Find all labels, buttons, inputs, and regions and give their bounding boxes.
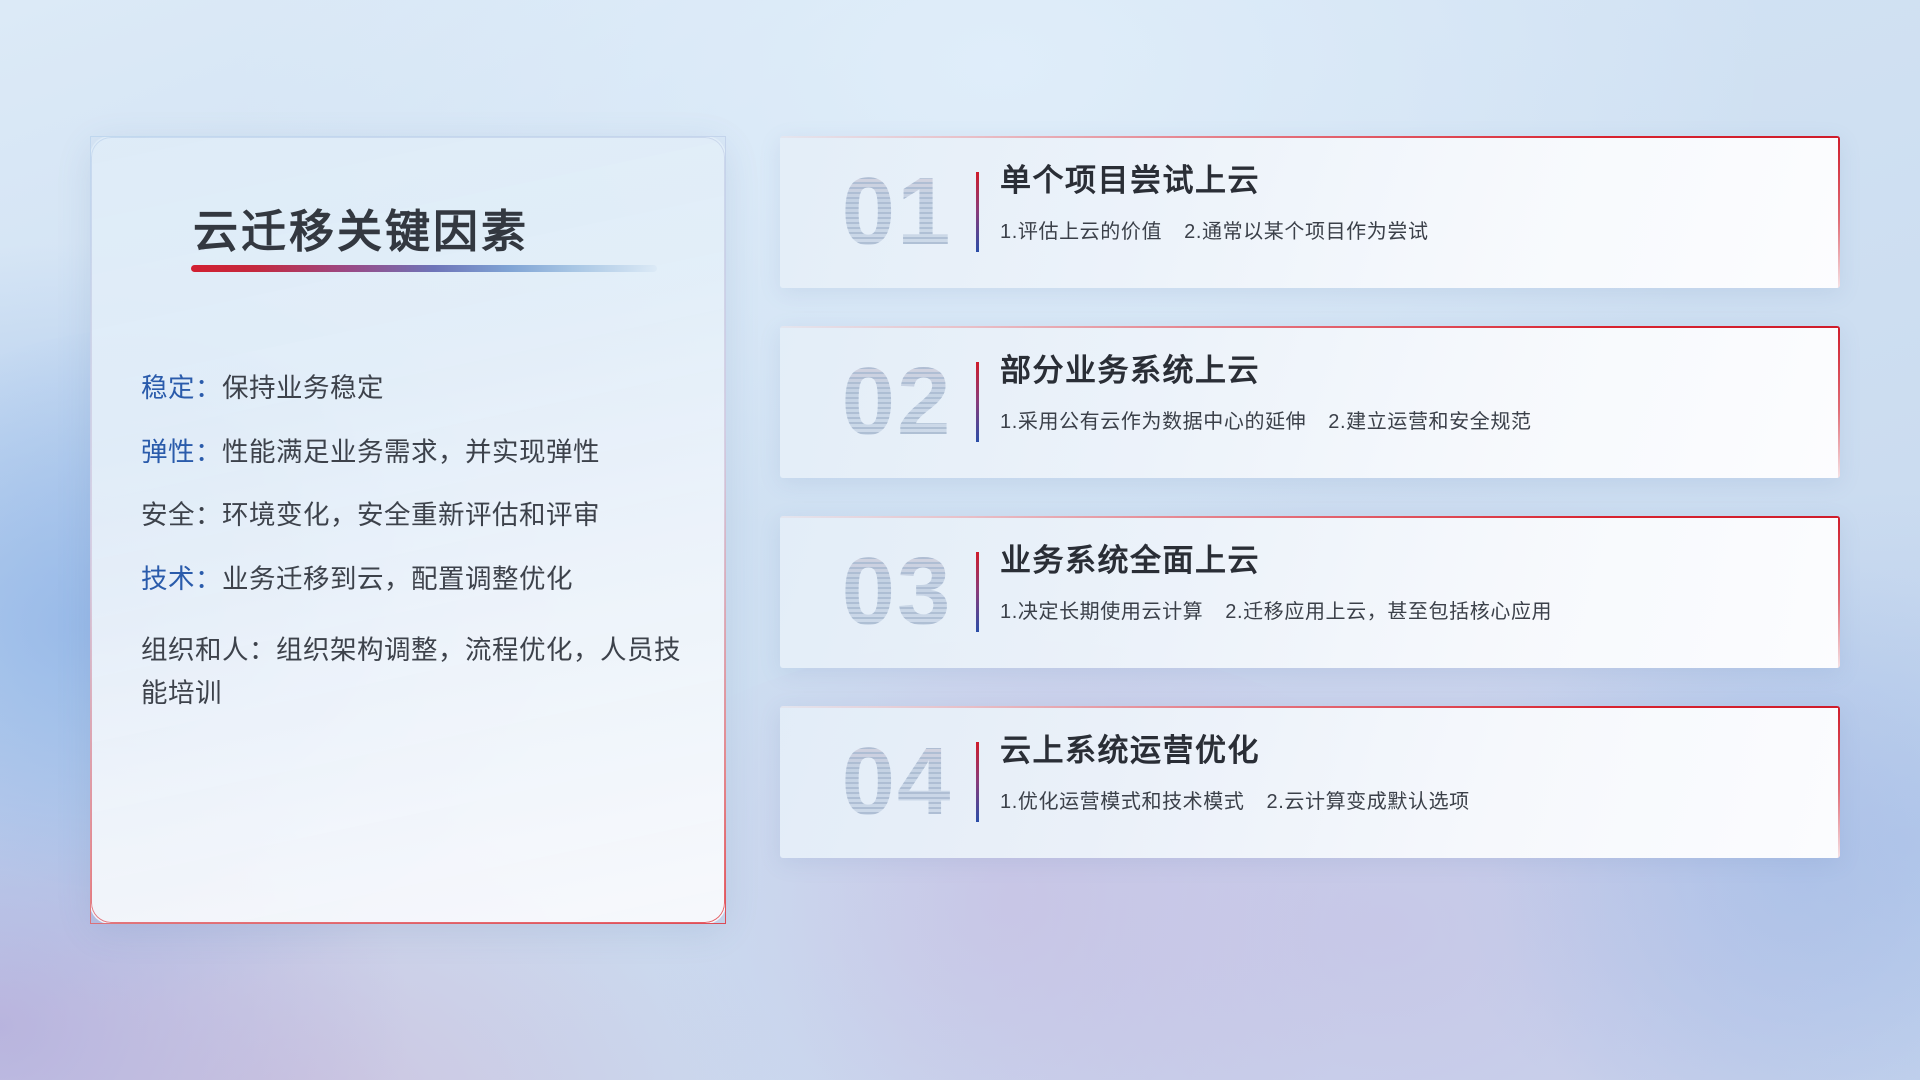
stage-number-watermark: 04 <box>802 722 992 842</box>
card-body: 云上系统运营优化 1.优化运营模式和技术模式2.云计算变成默认选项 <box>1000 732 1800 814</box>
factor-description: 保持业务稳定 <box>222 373 384 403</box>
stage-number-watermark: 01 <box>802 152 992 272</box>
card-right-accent <box>1838 516 1840 668</box>
card-top-accent <box>780 326 1840 328</box>
card-divider-bar <box>976 172 979 252</box>
card-body: 部分业务系统上云 1.采用公有云作为数据中心的延伸2.建立运营和安全规范 <box>1000 352 1800 434</box>
card-title: 单个项目尝试上云 <box>1000 162 1800 201</box>
factor-item: 弹性：性能满足业务需求，并实现弹性 <box>141 439 701 466</box>
card-description: 1.决定长期使用云计算2.迁移应用上云，甚至包括核心应用 <box>1000 595 1800 624</box>
stage-card[interactable]: 03 业务系统全面上云 1.决定长期使用云计算2.迁移应用上云，甚至包括核心应用 <box>780 516 1840 668</box>
card-point: 1.优化运营模式和技术模式 <box>1000 791 1244 813</box>
factor-item: 安全：环境变化，安全重新评估和评审 <box>141 502 701 529</box>
card-divider-bar <box>976 552 979 632</box>
factor-description: 性能满足业务需求，并实现弹性 <box>222 437 600 467</box>
card-divider-bar <box>976 362 979 442</box>
card-title: 业务系统全面上云 <box>1000 542 1800 581</box>
card-description: 1.评估上云的价值2.通常以某个项目作为尝试 <box>1000 215 1800 244</box>
stage-card[interactable]: 01 单个项目尝试上云 1.评估上云的价值2.通常以某个项目作为尝试 <box>780 136 1840 288</box>
card-top-accent <box>780 516 1840 518</box>
stage-card[interactable]: 02 部分业务系统上云 1.采用公有云作为数据中心的延伸2.建立运营和安全规范 <box>780 326 1840 478</box>
stage-card[interactable]: 04 云上系统运营优化 1.优化运营模式和技术模式2.云计算变成默认选项 <box>780 706 1840 858</box>
card-point: 2.迁移应用上云，甚至包括核心应用 <box>1225 601 1552 623</box>
title-underline-accent <box>191 265 657 272</box>
factor-label: 稳定： <box>141 373 222 403</box>
card-point: 1.评估上云的价值 <box>1000 221 1162 243</box>
card-point: 1.采用公有云作为数据中心的延伸 <box>1000 411 1306 433</box>
factor-label: 安全： <box>141 500 222 530</box>
card-point: 2.云计算变成默认选项 <box>1266 791 1469 813</box>
factor-list: 稳定：保持业务稳定 弹性：性能满足业务需求，并实现弹性 安全：环境变化，安全重新… <box>141 375 701 752</box>
card-body: 业务系统全面上云 1.决定长期使用云计算2.迁移应用上云，甚至包括核心应用 <box>1000 542 1800 624</box>
stage-number-watermark: 03 <box>802 532 992 652</box>
factor-item: 组织和人：组织架构调整，流程优化，人员技能培训 <box>141 629 701 715</box>
card-top-accent <box>780 136 1840 138</box>
card-description: 1.优化运营模式和技术模式2.云计算变成默认选项 <box>1000 785 1800 814</box>
slide-root: 云迁移关键因素 稳定：保持业务稳定 弹性：性能满足业务需求，并实现弹性 安全：环… <box>0 0 1920 1080</box>
card-description: 1.采用公有云作为数据中心的延伸2.建立运营和安全规范 <box>1000 405 1800 434</box>
card-right-accent <box>1838 326 1840 478</box>
factor-item: 稳定：保持业务稳定 <box>141 375 701 402</box>
card-point: 2.通常以某个项目作为尝试 <box>1184 221 1428 243</box>
card-right-accent <box>1838 706 1840 858</box>
factor-description: 环境变化，安全重新评估和评审 <box>222 500 600 530</box>
factor-label: 技术： <box>141 564 222 594</box>
factor-description: 业务迁移到云，配置调整优化 <box>222 564 573 594</box>
factor-label: 组织和人： <box>141 635 276 665</box>
card-right-accent <box>1838 136 1840 288</box>
factor-label: 弹性： <box>141 437 222 467</box>
factor-item: 技术：业务迁移到云，配置调整优化 <box>141 566 701 593</box>
panel-title: 云迁移关键因素 <box>193 195 529 260</box>
card-top-accent <box>780 706 1840 708</box>
card-body: 单个项目尝试上云 1.评估上云的价值2.通常以某个项目作为尝试 <box>1000 162 1800 244</box>
card-title: 部分业务系统上云 <box>1000 352 1800 391</box>
stage-number-watermark: 02 <box>802 342 992 462</box>
key-factors-panel: 云迁移关键因素 稳定：保持业务稳定 弹性：性能满足业务需求，并实现弹性 安全：环… <box>90 136 726 924</box>
stage-card-list: 01 单个项目尝试上云 1.评估上云的价值2.通常以某个项目作为尝试 02 部分… <box>780 136 1840 896</box>
card-divider-bar <box>976 742 979 822</box>
card-point: 1.决定长期使用云计算 <box>1000 601 1203 623</box>
card-title: 云上系统运营优化 <box>1000 732 1800 771</box>
card-point: 2.建立运营和安全规范 <box>1328 411 1531 433</box>
